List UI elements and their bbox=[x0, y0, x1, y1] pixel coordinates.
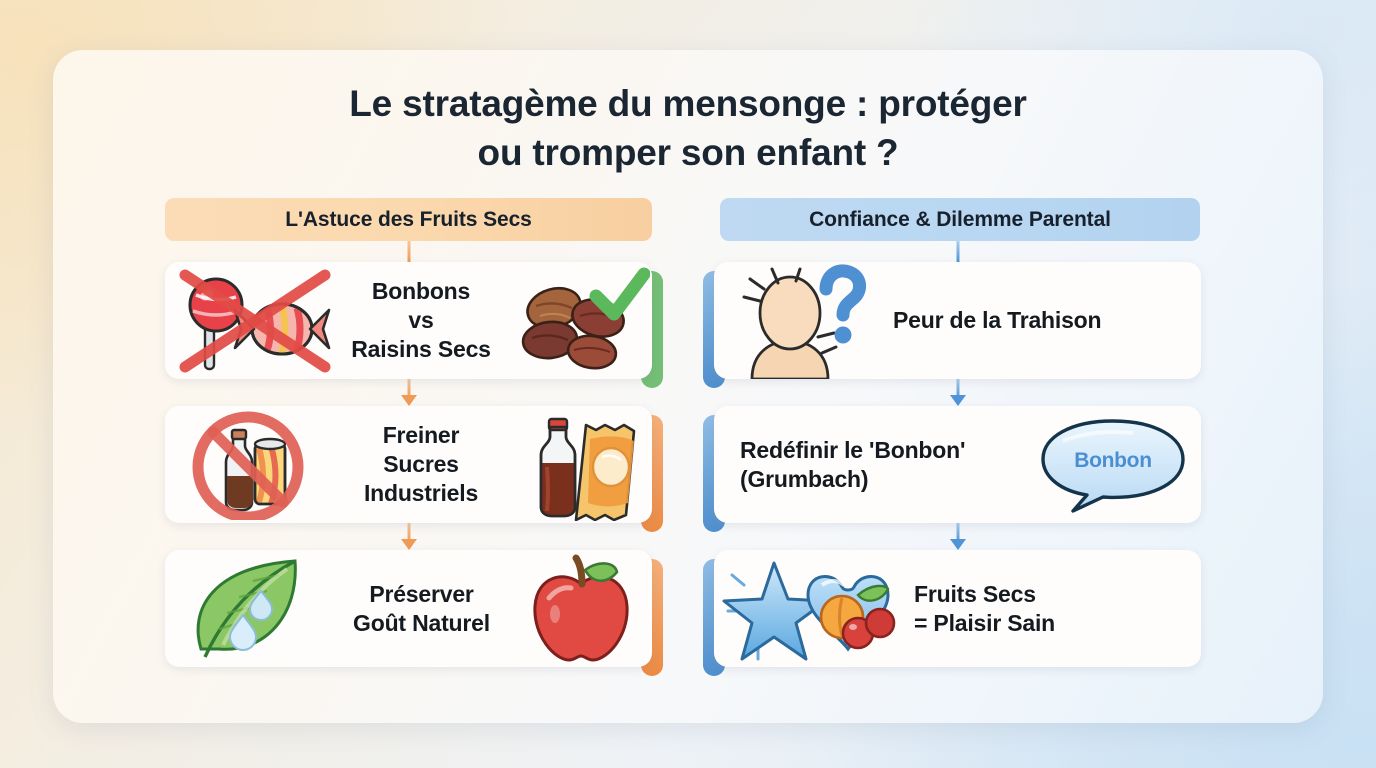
card-text: Freiner Sucres Industriels bbox=[330, 421, 512, 508]
column-left-header: L'Astuce des Fruits Secs bbox=[165, 198, 652, 241]
connector-left-1 bbox=[165, 379, 652, 406]
star-and-heart-with-fruit-icon bbox=[714, 553, 914, 665]
card-line-2: vs bbox=[340, 306, 502, 335]
soda-bottle-and-chips-icon bbox=[512, 409, 652, 521]
crossed-out-candy-icon bbox=[165, 267, 340, 375]
red-apple-icon bbox=[510, 554, 652, 664]
person-with-question-mark-icon bbox=[714, 263, 889, 379]
card-line-3: Raisins Secs bbox=[340, 335, 502, 364]
card-line-2: Goût Naturel bbox=[333, 609, 510, 638]
column-right: Confiance & Dilemme Parental bbox=[714, 198, 1201, 667]
card-line-1: Freiner bbox=[330, 421, 512, 450]
connector-arrowhead bbox=[401, 539, 417, 550]
card-text: Peur de la Trahison bbox=[889, 306, 1201, 335]
content-panel: Le stratagème du mensonge : protéger ou … bbox=[53, 50, 1323, 723]
connector-arrowhead bbox=[950, 395, 966, 406]
card-line-2: = Plaisir Sain bbox=[914, 609, 1201, 638]
card-fruits-secs-plaisir[interactable]: Fruits Secs = Plaisir Sain bbox=[714, 550, 1201, 667]
card-redefinir-bonbon[interactable]: Redéfinir le 'Bonbon' (Grumbach) bbox=[714, 406, 1201, 523]
card-line-2: Sucres Industriels bbox=[330, 450, 512, 508]
connector-left-2 bbox=[165, 523, 652, 550]
card-preserver-gout[interactable]: Préserver Goût Naturel bbox=[165, 550, 652, 667]
green-leaf-with-droplets-icon bbox=[165, 553, 333, 665]
card-line-1: Peur de la Trahison bbox=[893, 306, 1201, 335]
card-text: Bonbons vs Raisins Secs bbox=[340, 277, 502, 364]
connector-stem bbox=[407, 241, 410, 262]
card-bonbons-vs-raisins[interactable]: Bonbons vs Raisins Secs bbox=[165, 262, 652, 379]
title-line-2: ou tromper son enfant ? bbox=[53, 129, 1323, 178]
speech-bubble-icon: Bonbon bbox=[1025, 415, 1201, 515]
raisins-with-check-icon bbox=[502, 266, 652, 376]
connector-arrowhead bbox=[950, 539, 966, 550]
card-wrap: Bonbons vs Raisins Secs bbox=[165, 262, 652, 379]
infographic-canvas: Le stratagème du mensonge : protéger ou … bbox=[0, 0, 1376, 768]
connector-right-2 bbox=[714, 523, 1201, 550]
card-freiner-sucres[interactable]: Freiner Sucres Industriels bbox=[165, 406, 652, 523]
no-sugary-drinks-icon bbox=[165, 410, 330, 520]
card-line-1: Préserver bbox=[333, 580, 510, 609]
card-wrap: Freiner Sucres Industriels bbox=[165, 406, 652, 523]
connector-left-0 bbox=[165, 241, 652, 262]
column-left: L'Astuce des Fruits Secs bbox=[165, 198, 652, 667]
card-wrap: Fruits Secs = Plaisir Sain bbox=[714, 550, 1201, 667]
connector-stem bbox=[956, 241, 959, 262]
card-text: Préserver Goût Naturel bbox=[333, 580, 510, 638]
card-line-1: Redéfinir le 'Bonbon' bbox=[740, 436, 1025, 465]
card-line-1: Fruits Secs bbox=[914, 580, 1201, 609]
column-right-header: Confiance & Dilemme Parental bbox=[720, 198, 1200, 241]
connector-right-1 bbox=[714, 379, 1201, 406]
card-wrap: Peur de la Trahison bbox=[714, 262, 1201, 379]
page-title: Le stratagème du mensonge : protéger ou … bbox=[53, 80, 1323, 178]
title-line-1: Le stratagème du mensonge : protéger bbox=[53, 80, 1323, 129]
card-peur-trahison[interactable]: Peur de la Trahison bbox=[714, 262, 1201, 379]
card-text: Fruits Secs = Plaisir Sain bbox=[914, 580, 1201, 638]
connector-arrowhead bbox=[401, 395, 417, 406]
card-wrap: Redéfinir le 'Bonbon' (Grumbach) bbox=[714, 406, 1201, 523]
card-wrap: Préserver Goût Naturel bbox=[165, 550, 652, 667]
card-text: Redéfinir le 'Bonbon' (Grumbach) bbox=[714, 436, 1025, 494]
card-line-1: Bonbons bbox=[340, 277, 502, 306]
connector-right-0 bbox=[714, 241, 1201, 262]
card-line-2: (Grumbach) bbox=[740, 465, 1025, 494]
